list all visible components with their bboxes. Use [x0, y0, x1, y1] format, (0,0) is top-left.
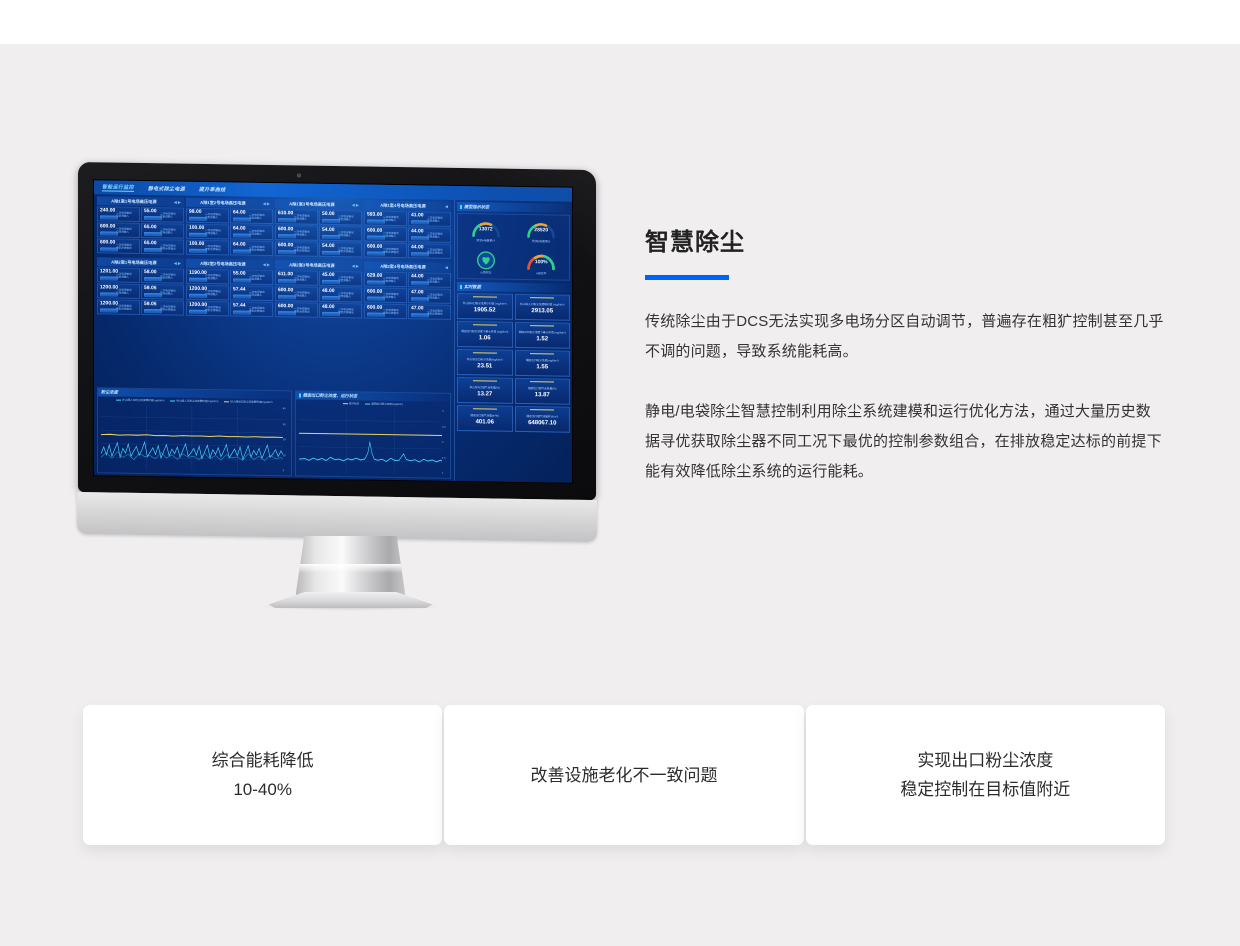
group-arrows-icon[interactable]: ◀ ▶	[349, 263, 362, 268]
param-cell: 65.00二次电压输出实际值输入	[141, 223, 184, 239]
bullet-icon	[299, 393, 301, 397]
param-group-title: A除1室4号电场高压电源	[364, 202, 442, 209]
param-cell: 54.00二次电压输出实际值输入	[319, 226, 362, 242]
param-group: A除1室1号电场高压电源 ◀ ▶ 240.00二次电流输出设定值输入 55.00…	[97, 196, 184, 254]
desktop-monitor-illustration: 智能运行监控 静电式除尘电源 提升率曲线 A除1室1号电场高压电源	[78, 162, 623, 622]
param-cell: 1201.00二次电流输出设定值输入	[97, 267, 140, 283]
gauge-label: 预测A电量累计	[476, 238, 495, 242]
group-arrows-icon[interactable]: ◀ ▶	[260, 262, 273, 267]
gauge-value: 100%	[535, 259, 548, 265]
group-arrows-icon[interactable]: ◀ ▶	[171, 260, 184, 265]
param-cell: 611.00二次电流输出设定值输入	[275, 270, 318, 286]
param-cell: 44.00二次电压输出模型反馈输出	[408, 243, 451, 259]
benefit-card[interactable]: 综合能耗降低 10-40%	[83, 705, 442, 845]
gauge-arc-icon	[524, 251, 558, 272]
chart-plot-area	[101, 404, 283, 472]
dashboard-app: 智能运行监控 静电式除尘电源 提升率曲线 A除1室1号电场高压电源	[94, 180, 572, 483]
param-cell: 629.00二次电流输出设定值输入	[364, 271, 407, 287]
param-cell: 600.00一次电流输出模型反馈输出	[364, 242, 407, 258]
chart-y-axis: 3 2.5 2 1.5 1	[442, 410, 449, 475]
dashboard-body: A除1室1号电场高压电源 ◀ ▶ 240.00二次电流输出设定值输入 55.00…	[94, 194, 572, 483]
kpi-card: 秋山除A口烟气含氧量(%)13.27	[457, 377, 513, 404]
chart-svg	[101, 404, 283, 472]
param-group: A除1室3号电场高压电源 ◀ ▶ 610.00二次电流输出设定值输入 50.00…	[275, 199, 362, 257]
param-cell: 44.00二次电压输出设定值输入	[408, 272, 451, 288]
monitor-screen: 智能运行监控 静电式除尘电源 提升率曲线 A除1室1号电场高压电源	[94, 180, 572, 483]
param-group-header: A除2室4号电场高压电源 ◀	[364, 261, 451, 271]
param-group-header: A除2室2号电场高压电源 ◀ ▶	[186, 259, 273, 269]
param-cell: 54.00二次电压输出模型反馈输出	[319, 242, 362, 258]
kpi-grid: 秋山除A口粉尘浓度小时值 (mg/Nm³)1905.52 秋山除入口粉尘浓度瞬时…	[457, 293, 570, 433]
gauge-grid: 13072 预测A电量累计 28520	[457, 213, 570, 281]
param-group-title: A除2室4号电场高压电源	[364, 263, 442, 270]
gauge-arc-icon	[524, 219, 558, 240]
legend-item: 烟囱出口粉尘浓度(mg/Nm³)	[365, 402, 403, 407]
kpi-card: 秋山除A口粉尘浓度小时值 (mg/Nm³)1905.52	[457, 293, 513, 320]
group-arrows-icon[interactable]: ◀ ▶	[260, 201, 273, 206]
gauge-label: 心跳状态	[480, 270, 491, 274]
param-group-header: A除1室3号电场高压电源 ◀ ▶	[275, 199, 362, 209]
param-group: A除1室2号电场高压电源 ◀ ▶ 98.00二次电流输出设定值输入 64.00二…	[186, 198, 273, 256]
chart-svg	[299, 407, 442, 474]
param-cell: 57.44二次电压输出模型反馈输出	[230, 301, 273, 317]
gauge-value: 28520	[534, 227, 548, 233]
chart-title: 烟囱出口粉尘浓度、运行状态	[303, 393, 357, 400]
kpi-card: 烟囱出口粉尘浓度下基小时值 (mg/Nm³)1.52	[515, 322, 571, 349]
param-cell: 610.00二次电流输出设定值输入	[275, 209, 318, 225]
param-cell: 100.00一次电流输出模型反馈输出	[186, 240, 229, 256]
legend-item: 秋山煤入口粉尘浓度瞬时值(mg/Nm³)	[170, 398, 218, 403]
param-cell: 45.00二次电压输出设定值输入	[319, 271, 362, 287]
group-arrows-icon[interactable]: ◀	[442, 204, 451, 209]
chart-strip: 粉尘浓度 秋山煤入口粉尘浓度瞬时值(mg/Nm³) 秋山煤入口粉尘浓度瞬时值(m…	[97, 387, 451, 479]
param-cell: 600.00一次电流输出实际值输入	[275, 286, 318, 302]
group-arrows-icon[interactable]: ◀	[442, 265, 451, 270]
chart-title: 粉尘浓度	[101, 389, 118, 395]
param-cell: 59.05二次电压输出实际值输入	[141, 284, 184, 300]
nav-item-0[interactable]: 智能运行监控	[102, 183, 134, 191]
param-cell: 65.00二次电压输出模型反馈输出	[141, 239, 184, 255]
dust-concentration-chart: 粉尘浓度 秋山煤入口粉尘浓度瞬时值(mg/Nm³) 秋山煤入口粉尘浓度瞬时值(m…	[97, 387, 292, 476]
kpi-card: 烟囱出口烟气流量累计(m³)648067.10	[515, 406, 571, 433]
param-cell: 44.00二次电压输出实际值输入	[408, 227, 451, 243]
param-cell: 50.00二次电压输出设定值输入	[319, 210, 362, 226]
param-cell: 600.00一次电流输出实际值输入	[364, 287, 407, 303]
param-group: A除2室1号电场高压电源 ◀ ▶ 1201.00二次电流输出设定值输入 58.0…	[97, 257, 184, 315]
benefit-card-text: 实现出口粉尘浓度 稳定控制在目标值附近	[900, 746, 1070, 804]
benefit-card-text: 综合能耗降低 10-40%	[212, 746, 314, 804]
page-title: 智慧除尘	[645, 222, 1165, 257]
kpi-card: 烟囱出口粉尘浓度(mg/Nm³)1.55	[515, 350, 571, 377]
param-cell: 593.00二次电流输出设定值输入	[364, 210, 407, 226]
param-group-header: A除1室4号电场高压电源 ◀	[364, 200, 451, 210]
kpi-card: 烟囱出口烟气含氧量(%)13.87	[515, 378, 571, 405]
param-group-header: A除1室2号电场高压电源 ◀ ▶	[186, 198, 273, 208]
param-group-title: A除2室2号电场高压电源	[186, 260, 260, 267]
param-cell: 57.44二次电压输出实际值输入	[230, 285, 273, 301]
param-group-header: A除2室1号电场高压电源 ◀ ▶	[97, 257, 184, 267]
param-group-title: A除1室3号电场高压电源	[275, 201, 349, 208]
top-white-band	[0, 0, 1240, 44]
paragraph-1: 传统除尘由于DCS无法实现多电场分区自动调节，普遍存在粗犷控制甚至几乎不调的问题…	[645, 307, 1165, 367]
param-group-title: A除2室3号电场高压电源	[275, 262, 349, 269]
param-cell: 600.00一次电流输出实际值输入	[97, 222, 140, 238]
param-cell: 600.00一次电流输出实际值输入	[275, 225, 318, 241]
param-cell: 47.00二次电压输出模型反馈输出	[408, 304, 451, 320]
param-group-title: A除2室1号电场高压电源	[97, 259, 171, 266]
heart-status-icon	[469, 250, 503, 271]
benefit-card-line2: 稳定控制在目标值附近	[900, 775, 1070, 804]
param-group-header: A除2室3号电场高压电源 ◀ ▶	[275, 260, 362, 270]
param-cell: 58.00二次电压输出设定值输入	[141, 268, 184, 284]
text-column: 智慧除尘 传统除尘由于DCS无法实现多电场分区自动调节，普遍存在粗犷控制甚至几乎…	[645, 222, 1165, 487]
monitor-bezel: 智能运行监控 静电式除尘电源 提升率曲线 A除1室1号电场高压电源	[78, 162, 596, 500]
kpi-section-title: 实时数据	[464, 284, 481, 290]
chart-plot-area	[299, 407, 442, 474]
benefit-card-line2: 10-40%	[212, 775, 314, 804]
group-arrows-icon[interactable]: ◀ ▶	[349, 202, 362, 207]
monitor-base	[269, 592, 433, 608]
param-group-header: A除1室1号电场高压电源 ◀ ▶	[97, 196, 184, 206]
benefit-card-text: 改善设施老化不一致问题	[530, 761, 717, 790]
bullet-icon	[460, 205, 462, 209]
param-group-title: A除1室1号电场高压电源	[97, 198, 171, 205]
gauge-label: A投运率	[536, 271, 546, 275]
param-group: A除2室4号电场高压电源 ◀ 629.00二次电流输出设定值输入 44.00二次…	[364, 261, 451, 319]
param-group: A除1室4号电场高压电源 ◀ 593.00二次电流输出设定值输入 41.00二次…	[364, 200, 451, 258]
benefit-card-line1: 改善设施老化不一致问题	[530, 761, 717, 790]
gauge-widget: 13072 预测A电量累计	[459, 215, 513, 246]
param-cell: 64.00二次电压输出设定值输入	[230, 208, 273, 224]
status-panel: 模型指示状态 13072 预测	[454, 200, 572, 483]
paragraph-2: 静电/电袋除尘智慧控制利用除尘系统建模和运行优化方法，通过大量历史数据寻优获取除…	[645, 397, 1165, 487]
param-group-title: A除1室2号电场高压电源	[186, 199, 260, 206]
kpi-card: 烟囱出口粉尘浓度下基小时值 (mg/Nm³)1.06	[457, 321, 513, 348]
chart-y-axis: 40 30 20 10 0	[283, 407, 290, 472]
param-cell: 41.00二次电压输出设定值输入	[408, 211, 451, 227]
kpi-section-header: 实时数据	[457, 282, 570, 293]
param-cell: 1190.00二次电流输出设定值输入	[186, 269, 229, 285]
legend-item: 秋山煤入口粉尘浓度瞬时值(mg/Nm³)	[116, 398, 164, 403]
param-cell: 64.00二次电压输出模型反馈输出	[230, 240, 273, 256]
param-group: A除2室2号电场高压电源 ◀ ▶ 1190.00二次电流输出设定值输入 55.0…	[186, 259, 273, 317]
gauge-widget: 100% A投运率	[515, 248, 569, 279]
monitor-chin	[77, 492, 597, 542]
gauge-section-title: 模型指示状态	[464, 204, 489, 210]
param-cell: 1200.00一次电流输出实际值输入	[186, 285, 229, 301]
legend-item: 秋山煤出口粉尘浓度瞬时值(mg/Nm³)	[224, 399, 272, 404]
nav-item-1[interactable]: 静电式除尘电源	[148, 185, 185, 193]
webcam-icon	[297, 173, 301, 177]
param-cell: 55.00二次电压输出设定值输入	[230, 269, 273, 285]
param-cell: 1200.00一次电流输出模型反馈输出	[97, 299, 140, 315]
param-cell: 600.00一次电流输出模型反馈输出	[97, 238, 140, 254]
gauge-section-header: 模型指示状态	[457, 202, 570, 213]
param-cell: 98.00二次电流输出设定值输入	[186, 208, 229, 224]
kpi-card: 秋山除出口粉尘浓度(mg/Nm³)23.51	[457, 349, 513, 376]
gauge-label: 预测B电量累计	[532, 239, 551, 243]
gauge-widget: 心跳状态	[459, 247, 513, 278]
param-cell: 600.00一次电流输出模型反馈输出	[275, 241, 318, 257]
param-cell: 1200.00一次电流输出模型反馈输出	[186, 301, 229, 317]
param-cell: 55.00二次电压输出设定值输入	[141, 207, 184, 223]
param-cell: 1200.00一次电流输出实际值输入	[97, 283, 140, 299]
stack-outlet-chart: 烟囱出口粉尘浓度、运行状态 运行状态 烟囱出口粉尘浓度(mg/Nm³)	[295, 390, 451, 478]
gauge-value: 13072	[479, 226, 493, 232]
benefit-card-line1: 实现出口粉尘浓度	[900, 746, 1070, 775]
param-cell: 64.00二次电压输出实际值输入	[230, 224, 273, 240]
bullet-icon	[460, 285, 462, 289]
group-arrows-icon[interactable]: ◀ ▶	[171, 199, 184, 204]
kpi-card: 烟囱出口烟气流量(m³/h)401.06	[457, 405, 513, 432]
gauge-arc-icon	[469, 218, 503, 239]
param-group: A除2室3号电场高压电源 ◀ ▶ 611.00二次电流输出设定值输入 45.00…	[275, 260, 362, 318]
kpi-card: 秋山除入口粉尘浓度瞬时值 (mg/Nm³)2913.05	[515, 294, 571, 321]
param-cell: 48.00二次电压输出模型反馈输出	[319, 303, 362, 319]
nav-item-2[interactable]: 提升率曲线	[199, 185, 226, 192]
parameter-grid: A除1室1号电场高压电源 ◀ ▶ 240.00二次电流输出设定值输入 55.00…	[94, 194, 454, 481]
chart-legend: 运行状态 烟囱出口粉尘浓度(mg/Nm³)	[296, 399, 450, 406]
hero-section: 智能运行监控 静电式除尘电源 提升率曲线 A除1室1号电场高压电源	[0, 44, 1240, 664]
benefit-card[interactable]: 实现出口粉尘浓度 稳定控制在目标值附近	[806, 705, 1165, 845]
param-cell: 600.00一次电流输出实际值输入	[364, 226, 407, 242]
param-cell: 59.05二次电压输出模型反馈输出	[141, 300, 184, 316]
title-accent-bar	[645, 275, 729, 280]
param-cell: 240.00二次电流输出设定值输入	[97, 206, 140, 222]
param-cell: 48.00二次电压输出实际值输入	[319, 287, 362, 303]
monitor-stand	[296, 536, 406, 596]
param-cell: 600.00一次电流输出模型反馈输出	[364, 303, 407, 319]
benefit-cards: 综合能耗降低 10-40% 改善设施老化不一致问题 实现出口粉尘浓度 稳定控制在…	[82, 705, 1166, 845]
benefit-card-line1: 综合能耗降低	[212, 746, 314, 775]
gauge-widget: 28520 预测B电量累计	[515, 216, 569, 247]
legend-item: 运行状态	[343, 401, 359, 405]
param-cell: 600.00一次电流输出模型反馈输出	[275, 302, 318, 318]
param-cell: 47.00二次电压输出实际值输入	[408, 288, 451, 304]
benefit-card[interactable]: 改善设施老化不一致问题	[444, 705, 803, 845]
param-cell: 100.00一次电流输出实际值输入	[186, 224, 229, 240]
